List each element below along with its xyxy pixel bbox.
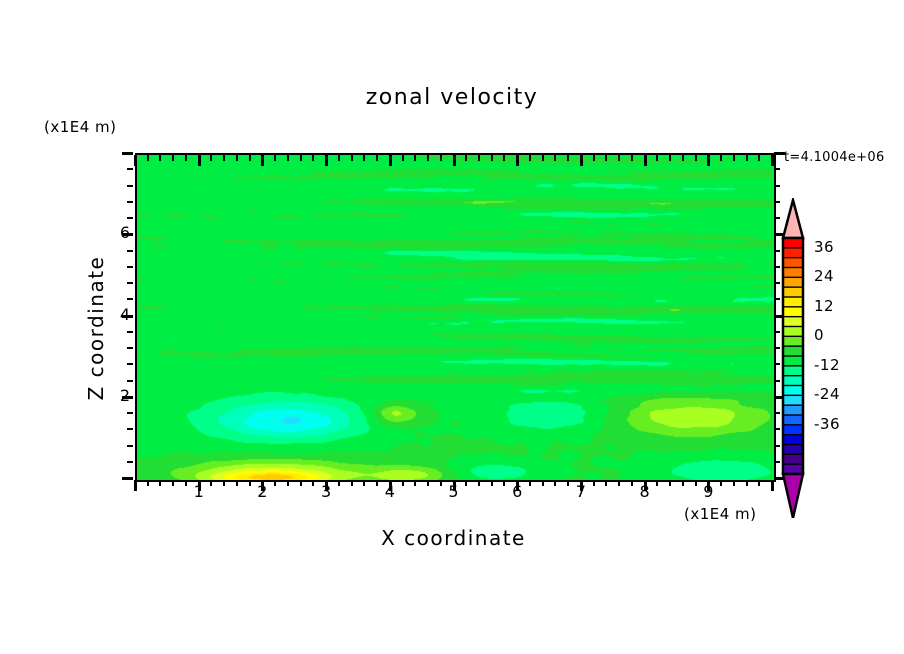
contour-field [137,155,774,480]
x-axis-major-tick-top [707,155,710,166]
y-axis-major-tick [122,152,133,155]
x-axis-minor-tick-top [363,155,365,161]
plot-area [135,153,776,482]
x-axis-minor-tick-top [376,155,378,161]
x-axis-minor-tick-top [567,155,569,161]
colorbar-band [783,346,803,356]
y-axis-tick-label: 4 [104,305,130,324]
y-axis-minor-tick [127,428,133,430]
x-axis-minor-tick-top [338,155,340,161]
x-axis-minor-tick-top [593,155,595,161]
x-axis-minor-tick [733,480,735,486]
x-axis-unit-label: (x1E4 m) [684,505,757,523]
x-axis-minor-tick [159,480,161,486]
y-axis-minor-tick [127,445,133,447]
x-axis-minor-tick-top [554,155,556,161]
x-axis-minor-tick-top [529,155,531,161]
x-axis-major-tick-top [261,155,264,166]
x-axis-minor-tick [478,480,480,486]
x-axis-minor-tick-top [733,155,735,161]
x-axis-major-tick [134,480,137,491]
y-axis-major-tick [122,477,133,480]
colorbar-tick-label: 12 [814,297,834,315]
x-axis-minor-tick-top [236,155,238,161]
y-axis-tick-label: 2 [104,386,130,405]
contour-plot-figure: zonal velocity (x1E4 m) Z coordinate t=4… [0,0,904,654]
colorbar-band [783,366,803,376]
colorbar-over-arrow [783,200,803,238]
x-axis-minor-tick [172,480,174,486]
x-axis-minor-tick-top [351,155,353,161]
x-axis-minor-tick-top [605,155,607,161]
x-axis-major-tick-top [389,155,392,166]
x-axis-minor-tick-top [631,155,633,161]
x-axis-minor-tick-top [249,155,251,161]
y-axis-minor-tick [127,201,133,203]
colorbar-band [783,386,803,396]
x-axis-major-tick-top [325,155,328,166]
y-axis-unit-label: (x1E4 m) [44,118,117,136]
colorbar-band [783,445,803,455]
x-axis-minor-tick-top [465,155,467,161]
y-axis-minor-tick [127,331,133,333]
x-axis-minor-tick-top [758,155,760,161]
x-axis-minor-tick-top [491,155,493,161]
x-axis-minor-tick-top [274,155,276,161]
x-axis-minor-tick [605,480,607,486]
colorbar-band [783,307,803,317]
colorbar-under-arrow [783,474,803,518]
x-axis-major-tick-top [198,155,201,166]
time-stamp-annotation: t=4.1004e+06 [784,150,885,165]
x-axis-minor-tick-top [440,155,442,161]
x-axis-major-tick-top [134,155,137,166]
x-axis-minor-tick-top [300,155,302,161]
colorbar-band [783,405,803,415]
x-axis-minor-tick-top [210,155,212,161]
colorbar-tick-label: -36 [814,415,840,433]
colorbar-band [783,454,803,464]
y-axis-minor-tick [127,347,133,349]
x-axis-minor-tick-top [746,155,748,161]
x-axis-tick-label: 3 [311,482,341,501]
x-axis-minor-tick-top [478,155,480,161]
x-axis-minor-tick-top [159,155,161,161]
x-axis-minor-tick-top [287,155,289,161]
y-axis-major-tick-right [774,152,785,155]
x-axis-tick-label: 6 [502,482,532,501]
page-title: zonal velocity [0,85,904,110]
y-axis-minor-tick [127,298,133,300]
x-axis-minor-tick-top [223,155,225,161]
x-axis-tick-label: 2 [247,482,277,501]
colorbar-tick-label: -12 [814,356,840,374]
x-axis-minor-tick-top [542,155,544,161]
x-axis-minor-tick-top [503,155,505,161]
x-axis-tick-label: 5 [439,482,469,501]
x-axis-minor-tick [223,480,225,486]
colorbar-band [783,287,803,297]
colorbar-tick-label: 24 [814,267,834,285]
colorbar-band [783,425,803,435]
x-axis-minor-tick [554,480,556,486]
colorbar-band [783,268,803,278]
colorbar-band [783,376,803,386]
colorbar-band [783,297,803,307]
x-axis-tick-label: 8 [630,482,660,501]
colorbar-tick-label: 0 [814,326,824,344]
x-axis-major-tick [771,480,774,491]
x-axis-minor-tick-top [172,155,174,161]
y-axis-minor-tick [127,185,133,187]
x-axis-minor-tick-top [402,155,404,161]
x-axis-minor-tick [414,480,416,486]
colorbar-band [783,317,803,327]
colorbar-band [783,248,803,258]
y-axis-minor-tick [127,380,133,382]
x-axis-minor-tick-top [312,155,314,161]
y-axis-minor-tick [127,217,133,219]
x-axis-minor-tick-top [618,155,620,161]
colorbar-band [783,415,803,425]
x-axis-minor-tick-top [147,155,149,161]
x-axis-minor-tick-top [682,155,684,161]
y-axis-minor-tick [127,461,133,463]
colorbar-band [783,238,803,248]
x-axis-minor-tick [351,480,353,486]
x-axis-major-tick-top [453,155,456,166]
y-axis-minor-tick [127,168,133,170]
colorbar-band [783,336,803,346]
x-axis-tick-label: 4 [375,482,405,501]
x-axis-tick-label: 7 [566,482,596,501]
x-axis-minor-tick [758,480,760,486]
colorbar-band [783,258,803,268]
x-axis-minor-tick-top [695,155,697,161]
colorbar-tick-label: 36 [814,238,834,256]
colorbar-band [783,435,803,445]
y-axis-minor-tick [127,250,133,252]
x-axis-minor-tick [300,480,302,486]
x-axis-minor-tick-top [427,155,429,161]
x-axis-minor-tick [618,480,620,486]
x-axis-tick-label: 9 [693,482,723,501]
colorbar-band [783,327,803,337]
colorbar-tick-label: -24 [814,385,840,403]
x-axis-minor-tick [669,480,671,486]
x-axis-minor-tick [542,480,544,486]
y-axis-minor-tick [127,266,133,268]
x-axis-minor-tick [236,480,238,486]
x-axis-minor-tick [427,480,429,486]
x-axis-minor-tick [147,480,149,486]
colorbar-band [783,277,803,287]
x-axis-major-tick-top [771,155,774,166]
x-axis-minor-tick [491,480,493,486]
x-axis-tick-label: 1 [184,482,214,501]
x-axis-minor-tick-top [414,155,416,161]
x-axis-major-tick-top [644,155,647,166]
x-axis-minor-tick-top [669,155,671,161]
colorbar-band [783,395,803,405]
y-axis-tick-label: 6 [104,223,130,242]
x-axis-major-tick-top [580,155,583,166]
x-axis-minor-tick-top [185,155,187,161]
x-axis-minor-tick [287,480,289,486]
x-axis-minor-tick [746,480,748,486]
x-axis-title: X coordinate [135,526,772,550]
x-axis-major-tick-top [516,155,519,166]
y-axis-title: Z coordinate [84,218,108,438]
x-axis-minor-tick-top [656,155,658,161]
y-axis-minor-tick-right [774,168,780,170]
x-axis-minor-tick [682,480,684,486]
y-axis-minor-tick-right [774,185,780,187]
y-axis-minor-tick [127,282,133,284]
colorbar-band [783,356,803,366]
y-axis-minor-tick [127,363,133,365]
x-axis-minor-tick-top [720,155,722,161]
y-axis-minor-tick [127,412,133,414]
x-axis-minor-tick [363,480,365,486]
